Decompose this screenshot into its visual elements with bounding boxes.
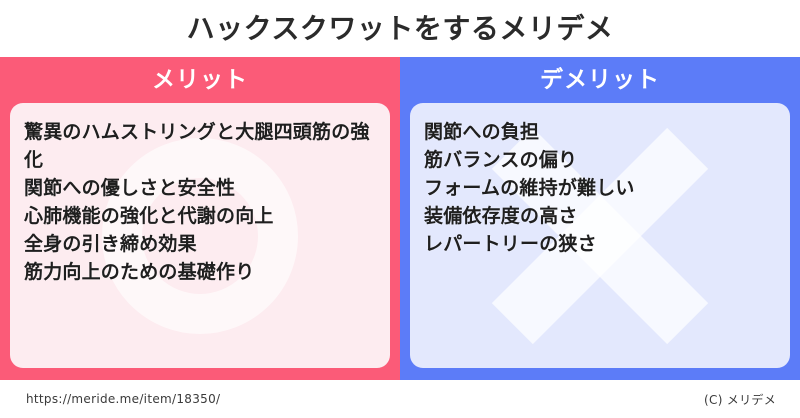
list-item: レパートリーの狭さ	[424, 231, 776, 259]
merit-card: 驚異のハムストリングと大腿四頭筋の強化 関節への優しさと安全性 心肺機能の強化と…	[10, 103, 390, 368]
merit-list: 驚異のハムストリングと大腿四頭筋の強化 関節への優しさと安全性 心肺機能の強化と…	[24, 119, 376, 287]
comparison-columns: メリット 驚異のハムストリングと大腿四頭筋の強化 関節への優しさと安全性 心肺機…	[0, 57, 800, 380]
list-item: 関節への負担	[424, 119, 776, 147]
copyright-credit: (C) メリデメ	[704, 391, 776, 408]
list-item: 筋バランスの偏り	[424, 147, 776, 175]
list-item: 驚異のハムストリングと大腿四頭筋の強化	[24, 119, 376, 175]
list-item: 筋力向上のための基礎作り	[24, 259, 376, 287]
demerit-heading: デメリット	[540, 69, 660, 92]
list-item: 心肺機能の強化と代謝の向上	[24, 203, 376, 231]
list-item: 全身の引き締め効果	[24, 231, 376, 259]
demerit-column: デメリット 関節への負担 筋バランスの偏り フォームの維持が難しい 装備依存度の…	[400, 57, 800, 380]
merit-column-header: メリット	[0, 57, 400, 103]
list-item: 関節への優しさと安全性	[24, 175, 376, 203]
demerit-card: 関節への負担 筋バランスの偏り フォームの維持が難しい 装備依存度の高さ レパー…	[410, 103, 790, 368]
page-title: ハックスクワットをするメリデメ	[187, 15, 614, 43]
list-item: 装備依存度の高さ	[424, 203, 776, 231]
source-url[interactable]: https://meride.me/item/18350/	[26, 392, 220, 406]
demerit-list: 関節への負担 筋バランスの偏り フォームの維持が難しい 装備依存度の高さ レパー…	[424, 119, 776, 259]
footer-bar: https://meride.me/item/18350/ (C) メリデメ	[0, 380, 800, 418]
demerit-column-header: デメリット	[400, 57, 800, 103]
merit-demerit-infographic: ハックスクワットをするメリデメ メリット 驚異のハムストリングと大腿四頭筋の強化…	[0, 0, 800, 418]
merit-heading: メリット	[152, 69, 248, 92]
merit-column: メリット 驚異のハムストリングと大腿四頭筋の強化 関節への優しさと安全性 心肺機…	[0, 57, 400, 380]
title-bar: ハックスクワットをするメリデメ	[0, 0, 800, 57]
list-item: フォームの維持が難しい	[424, 175, 776, 203]
